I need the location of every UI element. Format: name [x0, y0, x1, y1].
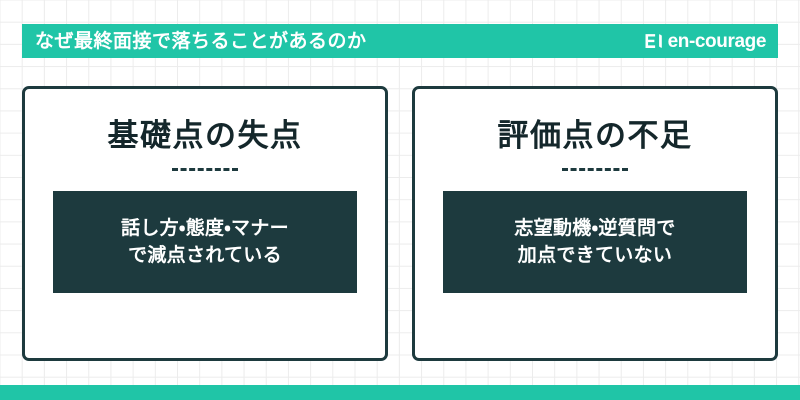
card-detail-line-1: 志望動機・逆質問で — [514, 218, 675, 239]
book-flag-icon — [644, 32, 663, 51]
card-basic-score-loss: 基礎点の失点 話し方・態度・マナー で減点されている — [22, 86, 388, 361]
page-title: なぜ最終面接で落ちることがあるのか — [35, 32, 367, 51]
header-bar: なぜ最終面接で落ちることがあるのか en-courage — [22, 24, 778, 58]
card-detail-box: 志望動機・逆質問で 加点できていない — [443, 191, 747, 293]
brand-logo: en-courage — [644, 32, 766, 51]
dashed-divider-icon — [562, 168, 628, 171]
card-detail-text: 志望動機・逆質問で 加点できていない — [514, 215, 675, 270]
card-detail-line-2: で減点されている — [128, 245, 282, 266]
footer-accent-bar — [0, 385, 800, 400]
card-detail-line-2: 加点できていない — [518, 245, 672, 266]
card-detail-box: 話し方・態度・マナー で減点されている — [53, 191, 357, 293]
slide-canvas: なぜ最終面接で落ちることがあるのか en-courage 基礎点の失点 話し方・… — [0, 0, 800, 400]
card-evaluation-shortfall: 評価点の不足 志望動機・逆質問で 加点できていない — [412, 86, 778, 361]
card-row: 基礎点の失点 話し方・態度・マナー で減点されている 評価点の不足 志望動機・逆… — [22, 86, 778, 361]
card-title: 基礎点の失点 — [108, 119, 303, 153]
brand-name: en-courage — [668, 32, 766, 51]
card-title: 評価点の不足 — [498, 119, 693, 153]
card-detail-line-1: 話し方・態度・マナー — [121, 218, 289, 239]
dashed-divider-icon — [172, 168, 238, 171]
card-detail-text: 話し方・態度・マナー で減点されている — [121, 215, 289, 270]
